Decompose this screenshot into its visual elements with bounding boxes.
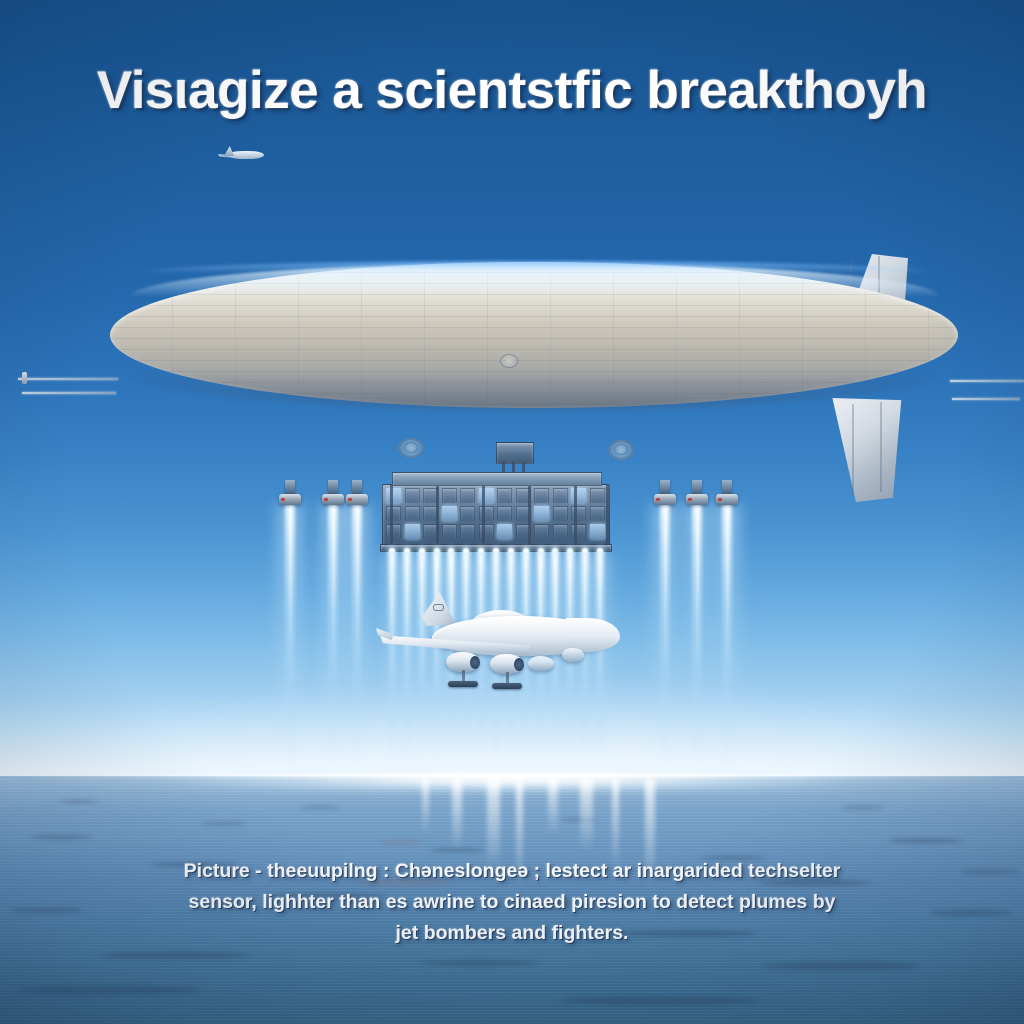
- gondola-module-r2-c7: [497, 506, 512, 521]
- jet-engine-2-intake: [514, 658, 524, 671]
- gondola-module-r2-c2: [405, 506, 420, 521]
- gondola-module-r2-c10: [553, 506, 568, 521]
- gondola-strut-3: [482, 484, 485, 546]
- jet-engine-1-intake: [470, 656, 480, 669]
- gondola-module-r1-c10: [553, 488, 568, 503]
- gondola-lamp-7: [477, 547, 485, 555]
- gondola-strut-6: [606, 484, 609, 546]
- airship-lower-fin: [824, 398, 908, 502]
- airship-engine-marker-2: [324, 498, 328, 501]
- gondola-module-r2-c12: [590, 506, 605, 521]
- gondola-lamp-15: [596, 547, 604, 555]
- gondola-lamp-11: [537, 547, 545, 555]
- airship-engine-marker-3: [348, 498, 352, 501]
- airship-engine-marker-1: [281, 498, 285, 501]
- airship-center-mast: [496, 442, 534, 464]
- gondola-module-r3-c1: [386, 524, 401, 539]
- gondola-module-r3-c6: [479, 524, 494, 539]
- gondola-lamp-4: [433, 547, 441, 555]
- gondola-module-r3-c12: [590, 524, 605, 539]
- gondola-module-r3-c7: [497, 524, 512, 539]
- airship-nose-spar-upper: [18, 378, 118, 380]
- gondola-module-r1-c12: [590, 488, 605, 503]
- airship-engine-marker-6: [718, 498, 722, 501]
- airship-roundel-left-inner: [404, 442, 418, 453]
- gondola-lamp-13: [566, 547, 574, 555]
- gondola-module-r1-c2: [405, 488, 420, 503]
- gondola-lamp-10: [522, 547, 530, 555]
- gondola-lamp-9: [507, 547, 515, 555]
- gondola-module-r3-c2: [405, 524, 420, 539]
- airship-nose-mast-cap: [22, 372, 27, 384]
- jet-nose: [566, 618, 620, 652]
- jet-engine-4: [562, 648, 584, 662]
- gondola-module-r1-c1: [386, 488, 401, 503]
- airship-lower-fin-rib-2: [880, 402, 882, 492]
- gondola-module-r1-c6: [479, 488, 494, 503]
- gondola-lamp-12: [551, 547, 559, 555]
- airship-roundel-upper: [500, 354, 518, 368]
- jet-main-gear-2: [492, 683, 522, 689]
- gondola-lamp-8: [492, 547, 500, 555]
- gondola-lamp-5: [447, 547, 455, 555]
- gondola-strut-5: [574, 484, 577, 546]
- gondola-strut-2: [436, 484, 439, 546]
- generated-image-scene: Visιagize a scientstfic breakthoyh Pictu…: [0, 0, 1024, 1024]
- gondola-strut-1: [390, 484, 393, 546]
- jet-tail-logo: [433, 604, 444, 611]
- airship-roundel-right-inner: [614, 444, 628, 455]
- caption-line-3: jet bombers and fighters.: [0, 918, 1024, 949]
- gondola-lamp-2: [403, 547, 411, 555]
- gondola-module-r3-c10: [553, 524, 568, 539]
- page-title: Visιagize a scientstfic breakthoyh: [0, 60, 1024, 121]
- gondola-lamp-3: [418, 547, 426, 555]
- gondola-lamp-6: [462, 547, 470, 555]
- gondola-module-r2-c4: [442, 506, 457, 521]
- gondola-module-r1-c9: [534, 488, 549, 503]
- jet-aircraft: [370, 590, 620, 690]
- gondola-module-r3-c4: [442, 524, 457, 539]
- jet-engine-3: [528, 656, 554, 671]
- gondola-module-r3-c5: [460, 524, 475, 539]
- airship-engine-marker-4: [656, 498, 660, 501]
- gondola-module-r3-c9: [534, 524, 549, 539]
- gondola-strut-4: [528, 484, 531, 546]
- gondola-module-r1-c5: [460, 488, 475, 503]
- gondola-module-r2-c5: [460, 506, 475, 521]
- gondola-module-r2-c9: [534, 506, 549, 521]
- caption-line-2: sensor, lighhter than es awrine to cinae…: [0, 887, 1024, 918]
- airship-hull-sky-rim: [140, 261, 935, 273]
- airship-lower-fin-rib: [852, 404, 854, 496]
- gondola-lamp-14: [581, 547, 589, 555]
- airship-nose-spar-lower: [22, 392, 116, 394]
- gondola-module-r2-c1: [386, 506, 401, 521]
- gondola-module-r2-c6: [479, 506, 494, 521]
- airship-tail-spar-upper: [950, 380, 1024, 382]
- caption-block: Picture - theeuupilng : Chǝneslongeǝ ; l…: [0, 856, 1024, 949]
- jet-main-gear-1: [448, 681, 478, 687]
- caption-line-1: Picture - theeuupilng : Chǝneslongeǝ ; l…: [0, 856, 1024, 887]
- gondola-module-r1-c7: [497, 488, 512, 503]
- airship-hull-underside-shadow: [130, 370, 940, 410]
- airship-engine-marker-5: [688, 498, 692, 501]
- airship-tail-spar-lower: [952, 398, 1020, 400]
- gondola-lamp-1: [388, 547, 396, 555]
- gondola-module-r1-c4: [442, 488, 457, 503]
- airship-gondola-truss: [392, 472, 602, 486]
